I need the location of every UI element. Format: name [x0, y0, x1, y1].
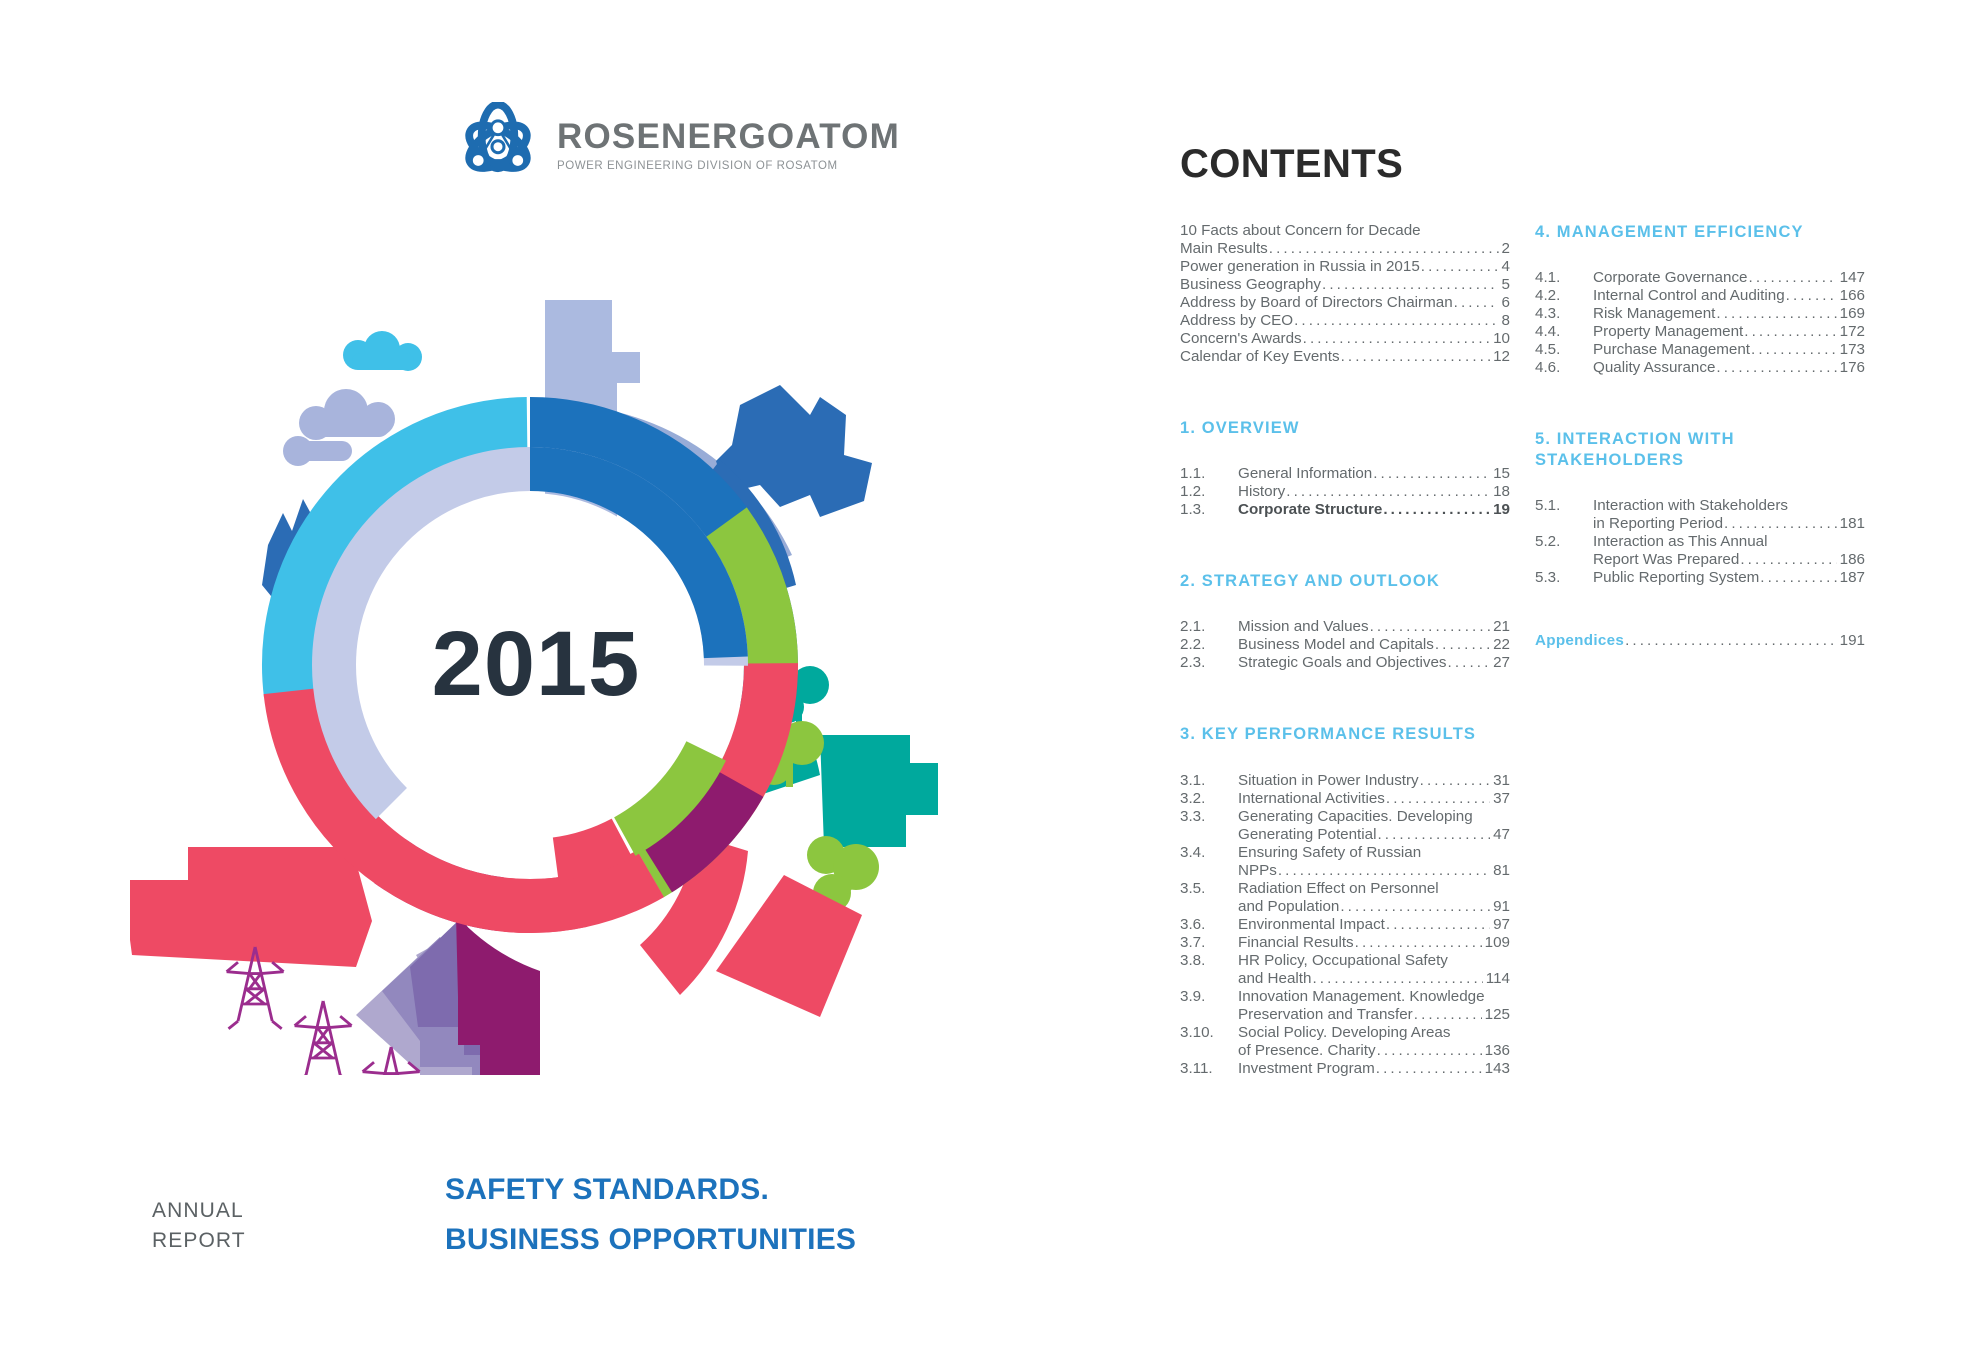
toc-entry-label: Situation in Power Industry — [1238, 772, 1419, 790]
toc-entry-label: Risk Management — [1593, 305, 1715, 323]
toc-entry[interactable]: 2.1.Mission and Values21 — [1180, 618, 1510, 636]
toc-entry-page: 19 — [1491, 501, 1510, 519]
toc-entry-number: 3.1. — [1180, 772, 1238, 790]
leader-dots — [1716, 306, 1836, 321]
leader-dots — [1386, 791, 1490, 806]
toc-entry[interactable]: 4.5.Purchase Management173 — [1535, 341, 1865, 359]
toc-entry-label: Strategic Goals and Objectives — [1238, 654, 1447, 672]
toc-entry-number: 1.1. — [1180, 465, 1238, 483]
leader-dots — [1786, 288, 1837, 303]
toc-entry-label: Preservation and Transfer — [1238, 1006, 1413, 1024]
toc-entry-page: 125 — [1483, 1006, 1510, 1024]
toc-section-heading: 3. KEY PERFORMANCE RESULTS — [1180, 724, 1510, 745]
toc-entry-label: Calendar of Key Events — [1180, 348, 1340, 366]
toc-entry-page: 166 — [1838, 287, 1865, 305]
toc-entry-number: 3.2. — [1180, 790, 1238, 808]
leader-dots — [1294, 313, 1498, 328]
toc-entry-page: 81 — [1491, 862, 1510, 880]
leader-dots — [1377, 1043, 1482, 1058]
leader-dots — [1386, 917, 1490, 932]
leader-dots — [1625, 633, 1837, 648]
toc-entry-page: 8 — [1500, 312, 1510, 330]
annual-report-line-2: REPORT — [152, 1226, 246, 1256]
toc-entry-label: Radiation Effect on Personnel — [1238, 880, 1439, 898]
leader-dots — [1749, 270, 1837, 285]
toc-entry-page: 91 — [1491, 898, 1510, 916]
toc-entry-number: 3.9. — [1180, 988, 1238, 1006]
toc-entry-number: 3.5. — [1180, 880, 1238, 898]
toc-entry-page: 10 — [1491, 330, 1510, 348]
toc-section-heading: 5. INTERACTION WITH STAKEHOLDERS — [1535, 429, 1865, 471]
toc-entry[interactable]: 3.3.Generating Capacities. DevelopingGen… — [1180, 808, 1510, 844]
toc-entry-page: 47 — [1491, 826, 1510, 844]
toc-entry-page: 97 — [1491, 916, 1510, 934]
toc-entry-page: 27 — [1491, 654, 1510, 672]
toc-entry-label: Ensuring Safety of Russian — [1238, 844, 1421, 862]
toc-entry-label: Report Was Prepared — [1593, 551, 1739, 569]
toc-entry-page: 169 — [1838, 305, 1865, 323]
toc-entry-label: Generating Potential — [1238, 826, 1376, 844]
toc-entry[interactable]: 4.2.Internal Control and Auditing166 — [1535, 287, 1865, 305]
toc-entry-number: 3.4. — [1180, 844, 1238, 862]
toc-entry-label: Purchase Management — [1593, 341, 1750, 359]
leader-dots — [1269, 241, 1499, 256]
leader-dots — [1376, 1061, 1482, 1076]
toc-entry[interactable]: 2.2.Business Model and Capitals22 — [1180, 636, 1510, 654]
toc-entry-page: 191 — [1838, 632, 1865, 650]
logo-tagline: POWER ENGINEERING DIVISION OF ROSATOM — [557, 160, 900, 172]
toc-entry-page: 22 — [1491, 636, 1510, 654]
toc-entry-number: 2.1. — [1180, 618, 1238, 636]
toc-entry-label: Power generation in Russia in 2015 — [1180, 258, 1420, 276]
toc-entry-page: 186 — [1838, 551, 1865, 569]
toc-entry-page: 181 — [1838, 515, 1865, 533]
cover-title: SAFETY STANDARDS. BUSINESS OPPORTUNITIES — [445, 1165, 856, 1264]
toc-entry-number: 4.3. — [1535, 305, 1593, 323]
leader-dots — [1414, 1007, 1482, 1022]
toc-entry-label: Internal Control and Auditing — [1593, 287, 1785, 305]
leader-dots — [1435, 637, 1490, 652]
toc-entry-page: 2 — [1500, 240, 1510, 258]
leader-dots — [1740, 552, 1836, 567]
toc-entry-label: International Activities — [1238, 790, 1385, 808]
leader-dots — [1370, 619, 1491, 634]
leader-dots — [1744, 324, 1836, 339]
leader-dots — [1724, 516, 1837, 531]
toc-entry-label: Address by Board of Directors Chairman — [1180, 294, 1453, 312]
toc-entry-label: Generating Capacities. Developing — [1238, 808, 1473, 826]
leader-dots — [1383, 502, 1490, 517]
toc-entry-page: 12 — [1491, 348, 1510, 366]
toc-appendices-entry[interactable]: Appendices191 — [1535, 632, 1865, 650]
annual-report-line-1: ANNUAL — [152, 1196, 246, 1226]
leader-dots — [1716, 360, 1836, 375]
toc-entry[interactable]: 1.2.History18 — [1180, 483, 1510, 501]
toc-entry[interactable]: Calendar of Key Events12 — [1180, 348, 1510, 366]
toc-entry-label: in Reporting Period — [1593, 515, 1723, 533]
toc-entry[interactable]: 10 Facts about Concern for Decade — [1180, 222, 1510, 240]
leader-dots — [1454, 295, 1499, 310]
toc-entry[interactable]: Business Geography5 — [1180, 276, 1510, 294]
toc-entry-number: 2.2. — [1180, 636, 1238, 654]
toc-entry-label: and Health — [1238, 970, 1311, 988]
toc-entry-label: 10 Facts about Concern for Decade — [1180, 222, 1421, 240]
toc-column-right: 4. MANAGEMENT EFFICIENCY4.1.Corporate Go… — [1535, 222, 1865, 650]
toc-entry-label: Financial Results — [1238, 934, 1354, 952]
leader-dots — [1278, 863, 1490, 878]
atom-trefoil-icon — [455, 102, 541, 182]
toc-entry-number: 3.8. — [1180, 952, 1238, 970]
toc-entry[interactable]: Address by Board of Directors Chairman6 — [1180, 294, 1510, 312]
leader-dots — [1340, 899, 1490, 914]
toc-entry-number: 2.3. — [1180, 654, 1238, 672]
toc-entry[interactable]: 1.1.General Information15 — [1180, 465, 1510, 483]
toc-entry-label: History — [1238, 483, 1285, 501]
center-disc — [358, 493, 702, 837]
left-cover-page: ROSENERGOATOM POWER ENGINEERING DIVISION… — [0, 0, 1150, 1355]
toc-entry-page: 109 — [1483, 934, 1510, 952]
toc-entry-label: Corporate Structure — [1238, 501, 1382, 519]
leader-dots — [1341, 349, 1491, 364]
toc-entry-label: Address by CEO — [1180, 312, 1293, 330]
toc-entry[interactable]: 4.4.Property Management172 — [1535, 323, 1865, 341]
pink-arrow-block — [130, 847, 372, 967]
toc-entry-label: Quality Assurance — [1593, 359, 1715, 377]
toc-entry-label: General Information — [1238, 465, 1372, 483]
toc-entry-page: 6 — [1500, 294, 1510, 312]
toc-entry-page: 21 — [1491, 618, 1510, 636]
toc-entry[interactable]: 2.3.Strategic Goals and Objectives27 — [1180, 654, 1510, 672]
leader-dots — [1322, 277, 1499, 292]
toc-entry[interactable]: Concern's Awards10 — [1180, 330, 1510, 348]
toc-entry-label: Innovation Management. Knowledge — [1238, 988, 1485, 1006]
leader-dots — [1286, 484, 1490, 499]
annual-report-label: ANNUAL REPORT — [152, 1196, 246, 1257]
toc-entry-number: 5.2. — [1535, 533, 1593, 551]
toc-entry[interactable]: Address by CEO8 — [1180, 312, 1510, 330]
toc-entry-number: 1.2. — [1180, 483, 1238, 501]
toc-entry-number: 4.5. — [1535, 341, 1593, 359]
toc-entry-label: Investment Program — [1238, 1060, 1375, 1078]
toc-entry-number: 3.7. — [1180, 934, 1238, 952]
leader-dots — [1760, 570, 1836, 585]
toc-entry-number: 3.6. — [1180, 916, 1238, 934]
leader-dots — [1751, 342, 1837, 357]
toc-entry-number: 3.11. — [1180, 1060, 1238, 1078]
toc-entry-number: 4.1. — [1535, 269, 1593, 287]
toc-entry[interactable]: 4.6.Quality Assurance176 — [1535, 359, 1865, 377]
toc-entry-label: Business Geography — [1180, 276, 1321, 294]
toc-entry-page: 18 — [1491, 483, 1510, 501]
cover-title-line-1: SAFETY STANDARDS. — [445, 1165, 856, 1215]
toc-section-heading: 4. MANAGEMENT EFFICIENCY — [1535, 222, 1865, 243]
toc-section-heading: 1. OVERVIEW — [1180, 418, 1510, 439]
contents-page: CONTENTS 10 Facts about Concern for Deca… — [1180, 0, 1984, 1355]
toc-entry-page: 173 — [1838, 341, 1865, 359]
toc-entry[interactable]: 3.7.Financial Results109 — [1180, 934, 1510, 952]
toc-entry-label: of Presence. Charity — [1238, 1042, 1376, 1060]
toc-entry[interactable]: 4.3.Risk Management169 — [1535, 305, 1865, 323]
toc-entry-number: 3.10. — [1180, 1024, 1238, 1042]
toc-entry[interactable]: 3.6.Environmental Impact97 — [1180, 916, 1510, 934]
toc-entry-number: 3.3. — [1180, 808, 1238, 826]
toc-entry-page: 187 — [1838, 569, 1865, 587]
toc-entry-label: NPPs — [1238, 862, 1277, 880]
toc-entry-label: HR Policy, Occupational Safety — [1238, 952, 1448, 970]
leader-dots — [1355, 935, 1482, 950]
toc-entry-number: 1.3. — [1180, 501, 1238, 519]
toc-entry-number: 5.3. — [1535, 569, 1593, 587]
toc-entry-page: 37 — [1491, 790, 1510, 808]
toc-entry-number: 4.4. — [1535, 323, 1593, 341]
toc-entry-page: 114 — [1484, 970, 1510, 988]
toc-entry[interactable]: Power generation in Russia in 20154 — [1180, 258, 1510, 276]
toc-entry-page: 4 — [1500, 258, 1510, 276]
toc-entry[interactable]: 5.3.Public Reporting System187 — [1535, 569, 1865, 587]
toc-entry-number: 4.2. — [1535, 287, 1593, 305]
cover-title-line-2: BUSINESS OPPORTUNITIES — [445, 1215, 856, 1265]
toc-entry-label: Concern's Awards — [1180, 330, 1302, 348]
toc-entry-label: Mission and Values — [1238, 618, 1369, 636]
toc-entry-page: 15 — [1491, 465, 1510, 483]
toc-entry[interactable]: 3.2.International Activities37 — [1180, 790, 1510, 808]
toc-entry[interactable]: 1.3.Corporate Structure19 — [1180, 501, 1510, 519]
toc-entry[interactable]: 5.1.Interaction with Stakeholdersin Repo… — [1535, 497, 1865, 533]
page-title: CONTENTS — [1180, 142, 1403, 187]
toc-entry-page: 5 — [1500, 276, 1510, 294]
leader-dots — [1420, 773, 1490, 788]
toc-entry-number: 5.1. — [1535, 497, 1593, 515]
leader-dots — [1448, 655, 1491, 670]
leader-dots — [1373, 466, 1490, 481]
logo-wordmark: ROSENERGOATOM — [557, 119, 900, 154]
toc-entry-page: 31 — [1491, 772, 1510, 790]
toc-entry[interactable]: 3.8.HR Policy, Occupational Safetyand He… — [1180, 952, 1510, 988]
toc-entry-label: Public Reporting System — [1593, 569, 1759, 587]
leader-dots — [1377, 827, 1490, 842]
toc-entry-label: Corporate Governance — [1593, 269, 1748, 287]
toc-entry[interactable]: 5.2.Interaction as This AnnualReport Was… — [1535, 533, 1865, 569]
toc-entry-label: Environmental Impact — [1238, 916, 1385, 934]
toc-section-heading: 2. STRATEGY AND OUTLOOK — [1180, 571, 1510, 592]
toc-entry-label: Business Model and Capitals — [1238, 636, 1434, 654]
toc-entry-page: 176 — [1838, 359, 1865, 377]
toc-entry-page: 143 — [1483, 1060, 1510, 1078]
toc-entry[interactable]: 3.1.Situation in Power Industry31 — [1180, 772, 1510, 790]
toc-entry-label: Appendices — [1535, 632, 1624, 650]
toc-entry-label: Social Policy. Developing Areas — [1238, 1024, 1450, 1042]
leader-dots — [1421, 259, 1499, 274]
toc-entry-label: Main Results — [1180, 240, 1268, 258]
toc-entry-label: Interaction as This Annual — [1593, 533, 1768, 551]
toc-entry[interactable]: Main Results2 — [1180, 240, 1510, 258]
toc-entry-label: and Population — [1238, 898, 1339, 916]
toc-entry-page: 172 — [1838, 323, 1865, 341]
toc-entry[interactable]: 3.4.Ensuring Safety of RussianNPPs81 — [1180, 844, 1510, 880]
toc-entry[interactable]: 4.1.Corporate Governance147 — [1535, 269, 1865, 287]
toc-entry[interactable]: 3.5.Radiation Effect on Personneland Pop… — [1180, 880, 1510, 916]
energy-infographic-ring: 2015 — [120, 255, 940, 1075]
rosenergoatom-logo: ROSENERGOATOM POWER ENGINEERING DIVISION… — [455, 102, 900, 182]
toc-entry[interactable]: 3.10.Social Policy. Developing Areasof P… — [1180, 1024, 1510, 1060]
toc-column-left: 10 Facts about Concern for DecadeMain Re… — [1180, 222, 1510, 1078]
leader-dots — [1303, 331, 1490, 346]
toc-entry-page: 136 — [1483, 1042, 1510, 1060]
toc-entry[interactable]: 3.11.Investment Program143 — [1180, 1060, 1510, 1078]
toc-entry-label: Interaction with Stakeholders — [1593, 497, 1788, 515]
toc-entry-number: 4.6. — [1535, 359, 1593, 377]
leader-dots — [1312, 971, 1482, 986]
purple-stepped-bands — [356, 915, 540, 1075]
toc-entry-page: 147 — [1838, 269, 1865, 287]
toc-entry[interactable]: 3.9.Innovation Management. KnowledgePres… — [1180, 988, 1510, 1024]
toc-entry-label: Property Management — [1593, 323, 1743, 341]
